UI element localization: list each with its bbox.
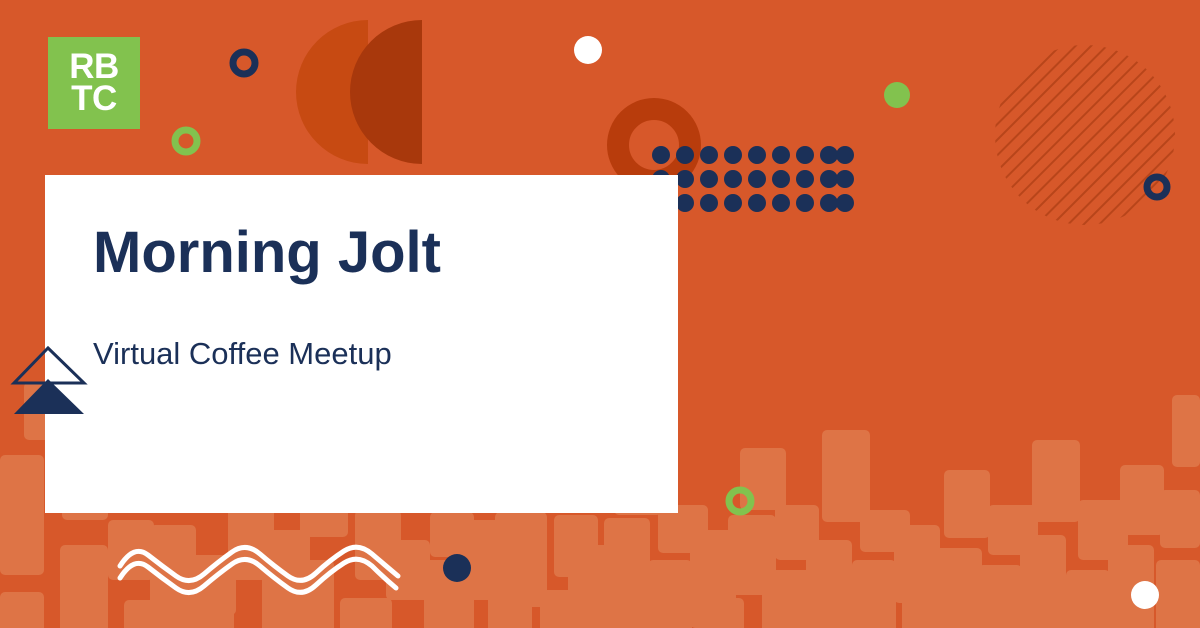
- wave-upper-icon: [120, 547, 398, 580]
- white-circle-bottom-right-icon: [1131, 581, 1159, 609]
- wave-lower-icon: [120, 559, 396, 592]
- poster-canvas: Morning Jolt Virtual Coffee Meetup RB TC: [0, 0, 1200, 628]
- navy-circle-bottom-icon: [443, 554, 471, 582]
- content-card: Morning Jolt Virtual Coffee Meetup: [45, 175, 678, 513]
- navy-ring-right-icon: [1147, 177, 1167, 197]
- logo-line-2: TC: [71, 83, 117, 115]
- stacked-triangles-icon: [10, 345, 90, 417]
- page-title: Morning Jolt: [93, 223, 638, 284]
- rbtc-logo[interactable]: RB TC: [48, 37, 140, 129]
- navy-ring-top-left-icon: [233, 52, 255, 74]
- triangle-outline-icon: [14, 348, 84, 383]
- green-ring-bottom-icon: [729, 490, 751, 512]
- half-circle-left: [296, 20, 368, 164]
- striped-circle: [990, 40, 1190, 240]
- orange-donut-icon: [618, 109, 690, 181]
- green-circle-top-icon: [884, 82, 910, 108]
- page-subtitle: Virtual Coffee Meetup: [93, 284, 638, 372]
- green-ring-left-icon: [175, 130, 197, 152]
- white-circle-top-icon: [574, 36, 602, 64]
- half-circle-right: [350, 20, 422, 164]
